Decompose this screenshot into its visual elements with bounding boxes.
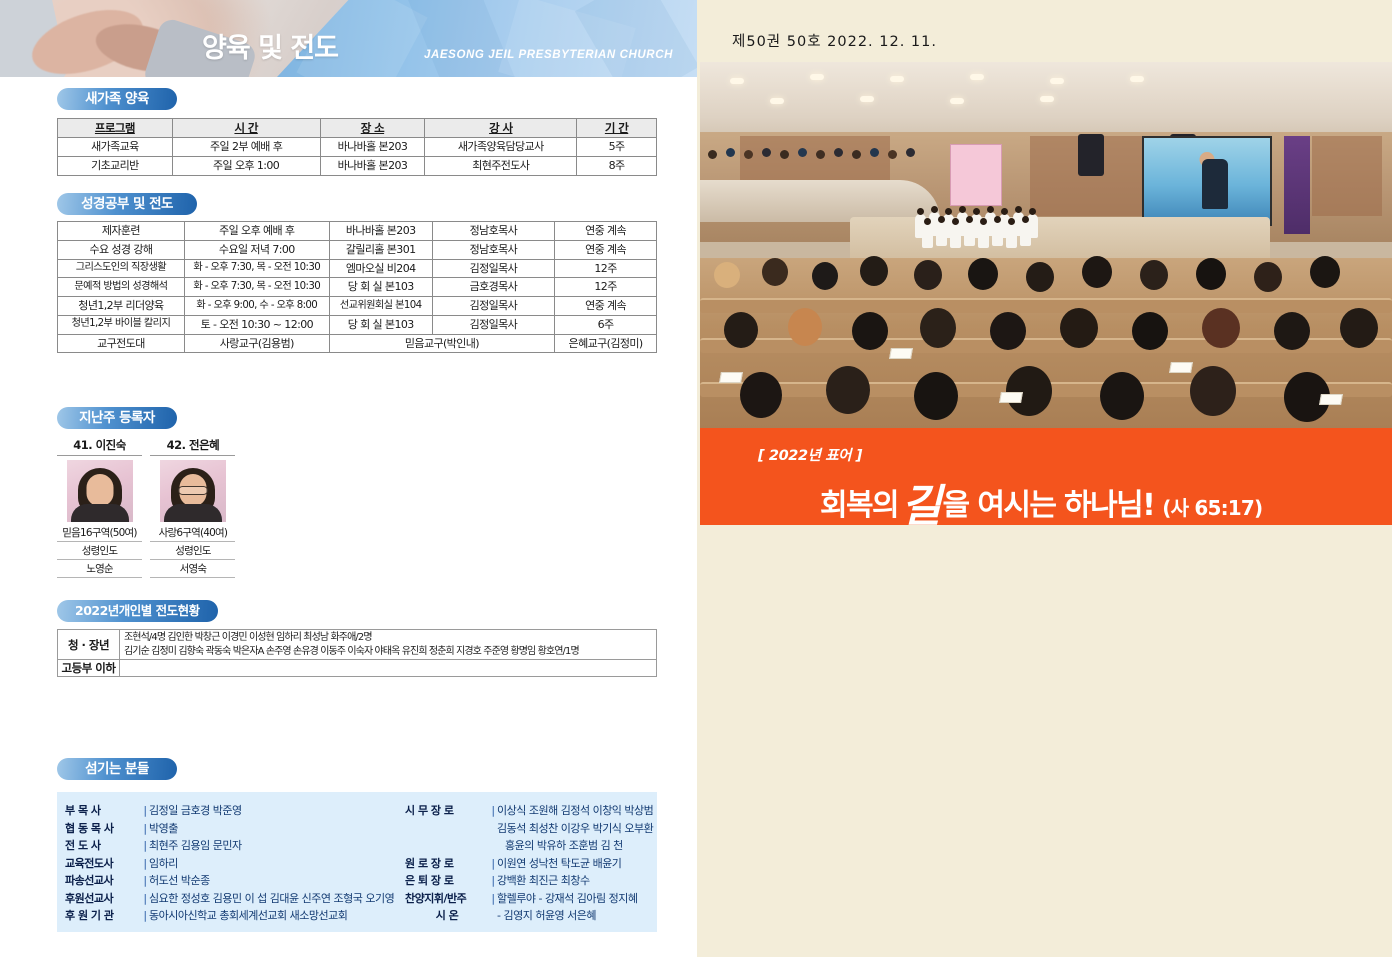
cell-period: 연중 계속 <box>555 240 657 259</box>
cell-period: 8주 <box>577 157 657 176</box>
table-row: 청년1,2부 바이블 칼리지 토 - 오전 10:30 ~ 12:00 당 회 … <box>58 315 657 334</box>
cell-place: 바나바홀 본203 <box>320 157 425 176</box>
cell-program: 그리스도인의 직장생활 <box>58 259 185 278</box>
slogan-text: 회복의길을 여시는 하나님!(사 65:17) <box>820 470 1262 525</box>
cell-place: 당 회 실 본103 <box>329 278 432 297</box>
list-item: 파송선교사 | 허도선 박순종 <box>65 872 394 890</box>
table-row-evangelism-teams: 교구전도대 사랑교구(김용범) 믿음교구(박인내) 은혜교구(김정미) <box>58 334 657 353</box>
servants-column-right: 시 무 장 로 | 이상식 조원해 김정석 이창익 박상범 김동석 최성찬 이강… <box>405 802 653 925</box>
member-district: 사랑6구역(40여) <box>150 524 235 542</box>
bulletin-page: 양육 및 전도 JAESONG JEIL PRESBYTERIAN CHURCH… <box>0 0 1392 957</box>
servant-names: 동아시아신학교 총회세계선교회 새소망선교회 <box>149 907 347 925</box>
table-row: 그리스도인의 직장생활 화 - 오후 7:30, 목 - 오전 10:30 엠마… <box>58 259 657 278</box>
projection-screen <box>1142 136 1272 226</box>
cell-program: 청년1,2부 바이블 칼리지 <box>58 315 185 334</box>
banner-gradient <box>277 0 697 77</box>
member-role: 성령인도 <box>150 542 235 560</box>
cell-names: 조현석/4명 김인한 박창근 이경민 이성현 임하리 최성남 화주애/2명 김기… <box>120 630 657 660</box>
badge-label: 2022년개인별 전도현황 <box>57 600 218 622</box>
col-program: 프로그램 <box>58 119 173 138</box>
servant-names: 최현주 김용임 문민자 <box>149 837 242 855</box>
evangelism-status-table: 청 · 장년 조현석/4명 김인한 박창근 이경민 이성현 임하리 최성남 화주… <box>57 629 657 677</box>
servant-names: 이상식 조원해 김정석 이창익 박상범 <box>497 802 653 820</box>
balcony <box>700 180 940 222</box>
cell-period: 6주 <box>555 315 657 334</box>
servants-box: 부 목 사 | 김정일 금호경 박준영 협 동 목 사 | 박영출 전 도 사 … <box>57 792 657 932</box>
year-slogan-banner: [ 2022년 표어 ] 회복의길을 여시는 하나님!(사 65:17) <box>700 428 1392 525</box>
cell-place: 바나바홀 본203 <box>320 138 425 157</box>
biblestudy-table: 제자훈련 주일 오후 예배 후 바나바홀 본203 정남호목사 연중 계속 수요… <box>57 221 657 353</box>
cell-period: 12주 <box>555 278 657 297</box>
servant-role: 은 퇴 장 로 <box>405 872 453 890</box>
names-line-2: 김기순 김정미 김향숙 곽동숙 박은자A 손주영 손유경 이동주 이숙자 야태옥… <box>124 645 652 659</box>
servant-names: 할렐루야 - 강재석 김아림 정지혜 <box>497 890 638 908</box>
section-badge-newmembers: 지난주 등록자 <box>57 407 177 429</box>
servant-role: 시 무 장 로 <box>405 802 453 820</box>
badge-label: 새가족 양육 <box>57 88 177 110</box>
list-item: 부 목 사 | 김정일 금호경 박준영 <box>65 802 394 820</box>
member-role: 성령인도 <box>57 542 142 560</box>
cell-label: 교구전도대 <box>58 334 185 353</box>
cell-time: 화 - 오후 9:00, 수 - 오후 8:00 <box>184 297 329 316</box>
section-badge-evangelism: 2022년개인별 전도현황 <box>57 600 218 622</box>
member-photo <box>67 460 133 522</box>
cell-group-label: 고등부 이하 <box>58 660 120 677</box>
servant-names: 강백환 최진근 최창수 <box>497 872 590 890</box>
servant-names: 이원연 성낙천 탁도균 배윤기 <box>497 855 621 873</box>
slogan-highlight: 길 <box>901 470 939 525</box>
cell-team-love: 사랑교구(김용범) <box>184 334 329 353</box>
servant-role: 전 도 사 <box>65 837 101 855</box>
worship-service-photo <box>700 62 1392 428</box>
servant-role: 부 목 사 <box>65 802 101 820</box>
col-time: 시 간 <box>172 119 320 138</box>
servant-names: - 김영지 허윤영 서은혜 <box>497 907 596 925</box>
servant-role: 찬양지휘/반주 <box>405 890 466 908</box>
col-teacher: 강 사 <box>425 119 577 138</box>
member-name: 42. 전은혜 <box>150 437 235 456</box>
separator: | <box>489 872 497 890</box>
cell-period: 연중 계속 <box>555 222 657 241</box>
table-row: 청 · 장년 조현석/4명 김인한 박창근 이경민 이성현 임하리 최성남 화주… <box>58 630 657 660</box>
slogan-part1: 회복의 <box>820 488 898 523</box>
table-row: 제자훈련 주일 오후 예배 후 바나바홀 본203 정남호목사 연중 계속 <box>58 222 657 241</box>
cell-names <box>120 660 657 677</box>
section-badge-newfamily: 새가족 양육 <box>57 88 177 110</box>
servant-names: 김정일 금호경 박준영 <box>149 802 242 820</box>
servant-role: 후 원 기 관 <box>65 907 113 925</box>
cell-teacher: 금호경목사 <box>432 278 555 297</box>
cell-group-label: 청 · 장년 <box>58 630 120 660</box>
servant-role: 파송선교사 <box>65 872 113 890</box>
cell-program: 수요 성경 강해 <box>58 240 185 259</box>
table-row: 청년1,2부 리더양육 화 - 오후 9:00, 수 - 오후 8:00 선교위… <box>58 297 657 316</box>
cell-team-grace: 은혜교구(김정미) <box>555 334 657 353</box>
servant-names: 박영출 <box>149 820 178 838</box>
cell-time: 주일 오후 1:00 <box>172 157 320 176</box>
cell-place: 갈릴리홀 본301 <box>329 240 432 259</box>
separator: | <box>141 837 149 855</box>
cell-teacher: 정남호목사 <box>432 222 555 241</box>
cell-team-faith: 믿음교구(박인내) <box>329 334 554 353</box>
servant-role: 교육전도사 <box>65 855 113 873</box>
cell-teacher: 김정일목사 <box>432 297 555 316</box>
table-header-row: 프로그램 시 간 장 소 강 사 기 간 <box>58 119 657 138</box>
cell-place: 선교위원회실 본104 <box>329 297 432 316</box>
table-row: 수요 성경 강해 수요일 저녁 7:00 갈릴리홀 본301 정남호목사 연중 … <box>58 240 657 259</box>
list-item: 시 온 - 김영지 허윤영 서은혜 <box>405 907 653 925</box>
badge-label: 성경공부 및 전도 <box>57 193 197 215</box>
separator <box>489 820 497 838</box>
cell-time: 주일 오후 예배 후 <box>184 222 329 241</box>
cell-program: 청년1,2부 리더양육 <box>58 297 185 316</box>
separator: | <box>141 890 149 908</box>
cell-teacher: 최현주전도사 <box>425 157 577 176</box>
purple-banner <box>1284 136 1310 234</box>
cell-period: 연중 계속 <box>555 297 657 316</box>
names-line-1: 조현석/4명 김인한 박창근 이경민 이성현 임하리 최성남 화주애/2명 <box>124 631 652 645</box>
servant-role: 원 로 장 로 <box>405 855 453 873</box>
badge-label: 섬기는 분들 <box>57 758 177 780</box>
list-item: 후원선교사 | 심요한 정성호 김용민 이 섭 김대윤 신주연 조형국 오기영 <box>65 890 394 908</box>
member-leader: 노영순 <box>57 560 142 578</box>
separator: | <box>489 890 497 908</box>
section-badge-servants: 섬기는 분들 <box>57 758 177 780</box>
list-item: 원 로 장 로 | 이원연 성낙천 탁도균 배윤기 <box>405 855 653 873</box>
servant-role: 시 온 <box>436 907 459 925</box>
cell-time: 화 - 오후 7:30, 목 - 오전 10:30 <box>184 278 329 297</box>
servants-column-left: 부 목 사 | 김정일 금호경 박준영 협 동 목 사 | 박영출 전 도 사 … <box>65 802 394 925</box>
cell-period: 12주 <box>555 259 657 278</box>
cell-teacher: 새가족양육담당교사 <box>425 138 577 157</box>
speaker-icon <box>1078 134 1104 176</box>
brick-wall <box>1312 136 1382 216</box>
table-row: 기초교리반 주일 오후 1:00 바나바홀 본203 최현주전도사 8주 <box>58 157 657 176</box>
cell-period: 5주 <box>577 138 657 157</box>
table-row: 문예적 방법의 성경해석 화 - 오후 7:30, 목 - 오전 10:30 당… <box>58 278 657 297</box>
separator: | <box>141 855 149 873</box>
table-row: 새가족교육 주일 2부 예배 후 바나바홀 본203 새가족양육담당교사 5주 <box>58 138 657 157</box>
badge-label: 지난주 등록자 <box>57 407 177 429</box>
servant-role: 후원선교사 <box>65 890 113 908</box>
servant-names: 심요한 정성호 김용민 이 섭 김대윤 신주연 조형국 오기영 <box>149 890 394 908</box>
col-place: 장 소 <box>320 119 425 138</box>
issue-number: 제50권 50호 2022. 12. 11. <box>732 30 937 51</box>
cell-program: 제자훈련 <box>58 222 185 241</box>
left-page: 양육 및 전도 JAESONG JEIL PRESBYTERIAN CHURCH… <box>0 0 697 957</box>
list-item: 41. 이진숙 믿음16구역(50여) 성령인도 노영순 <box>57 437 142 578</box>
cell-time: 수요일 저녁 7:00 <box>184 240 329 259</box>
separator <box>489 907 497 925</box>
list-item: 홍윤의 박유하 조훈범 김 천 <box>405 837 653 855</box>
event-poster <box>950 144 1002 206</box>
cell-program: 기초교리반 <box>58 157 173 176</box>
choir <box>915 210 1045 244</box>
member-photo <box>160 460 226 522</box>
cell-time: 주일 2부 예배 후 <box>172 138 320 157</box>
list-item: 전 도 사 | 최현주 김용임 문민자 <box>65 837 394 855</box>
servant-role: 협 동 목 사 <box>65 820 113 838</box>
cell-time: 화 - 오후 7:30, 목 - 오전 10:30 <box>184 259 329 278</box>
table-row: 고등부 이하 <box>58 660 657 677</box>
servant-names: 홍윤의 박유하 조훈범 김 천 <box>497 837 623 855</box>
slogan-tag: [ 2022년 표어 ] <box>758 444 862 465</box>
separator: | <box>141 820 149 838</box>
separator: | <box>141 907 149 925</box>
list-item: 협 동 목 사 | 박영출 <box>65 820 394 838</box>
list-item: 시 무 장 로 | 이상식 조원해 김정석 이창익 박상범 <box>405 802 653 820</box>
member-district: 믿음16구역(50여) <box>57 524 142 542</box>
servant-names: 임하리 <box>149 855 178 873</box>
separator <box>489 837 497 855</box>
separator: | <box>141 802 149 820</box>
church-english-name: JAESONG JEIL PRESBYTERIAN CHURCH <box>424 49 673 61</box>
list-item: 김동석 최성찬 이강우 박기식 오부환 <box>405 820 653 838</box>
cell-place: 당 회 실 본103 <box>329 315 432 334</box>
cell-place: 엠마오실 비204 <box>329 259 432 278</box>
list-item: 찬양지휘/반주 | 할렐루야 - 강재석 김아림 정지혜 <box>405 890 653 908</box>
section-badge-biblestudy: 성경공부 및 전도 <box>57 193 197 215</box>
list-item: 후 원 기 관 | 동아시아신학교 총회세계선교회 새소망선교회 <box>65 907 394 925</box>
new-members-list: 41. 이진숙 믿음16구역(50여) 성령인도 노영순 42. 전은혜 사랑6… <box>57 437 239 578</box>
right-page: 제50권 50호 2022. 12. 11. <box>697 0 1392 957</box>
separator: | <box>489 855 497 873</box>
cell-teacher: 김정일목사 <box>432 315 555 334</box>
servant-names: 허도선 박순종 <box>149 872 210 890</box>
cell-program: 새가족교육 <box>58 138 173 157</box>
facet-pattern <box>277 0 697 77</box>
page-header-banner: 양육 및 전도 JAESONG JEIL PRESBYTERIAN CHURCH <box>0 0 697 77</box>
slogan-part2: 을 여시는 하나님! <box>942 488 1154 523</box>
separator: | <box>141 872 149 890</box>
servant-names: 김동석 최성찬 이강우 박기식 오부환 <box>497 820 653 838</box>
cell-place: 바나바홀 본203 <box>329 222 432 241</box>
separator: | <box>489 802 497 820</box>
member-leader: 서영숙 <box>150 560 235 578</box>
cell-teacher: 정남호목사 <box>432 240 555 259</box>
cell-teacher: 김정일목사 <box>432 259 555 278</box>
list-item: 42. 전은혜 사랑6구역(40여) 성령인도 서영숙 <box>150 437 235 578</box>
slogan-reference: (사 65:17) <box>1162 496 1262 520</box>
cell-program: 문예적 방법의 성경해석 <box>58 278 185 297</box>
cell-time: 토 - 오전 10:30 ~ 12:00 <box>184 315 329 334</box>
member-name: 41. 이진숙 <box>57 437 142 456</box>
list-item: 교육전도사 | 임하리 <box>65 855 394 873</box>
newfamily-table: 프로그램 시 간 장 소 강 사 기 간 새가족교육 주일 2부 예배 후 바나… <box>57 118 657 176</box>
page-title: 양육 및 전도 <box>202 26 338 65</box>
list-item: 은 퇴 장 로 | 강백환 최진근 최창수 <box>405 872 653 890</box>
col-period: 기 간 <box>577 119 657 138</box>
